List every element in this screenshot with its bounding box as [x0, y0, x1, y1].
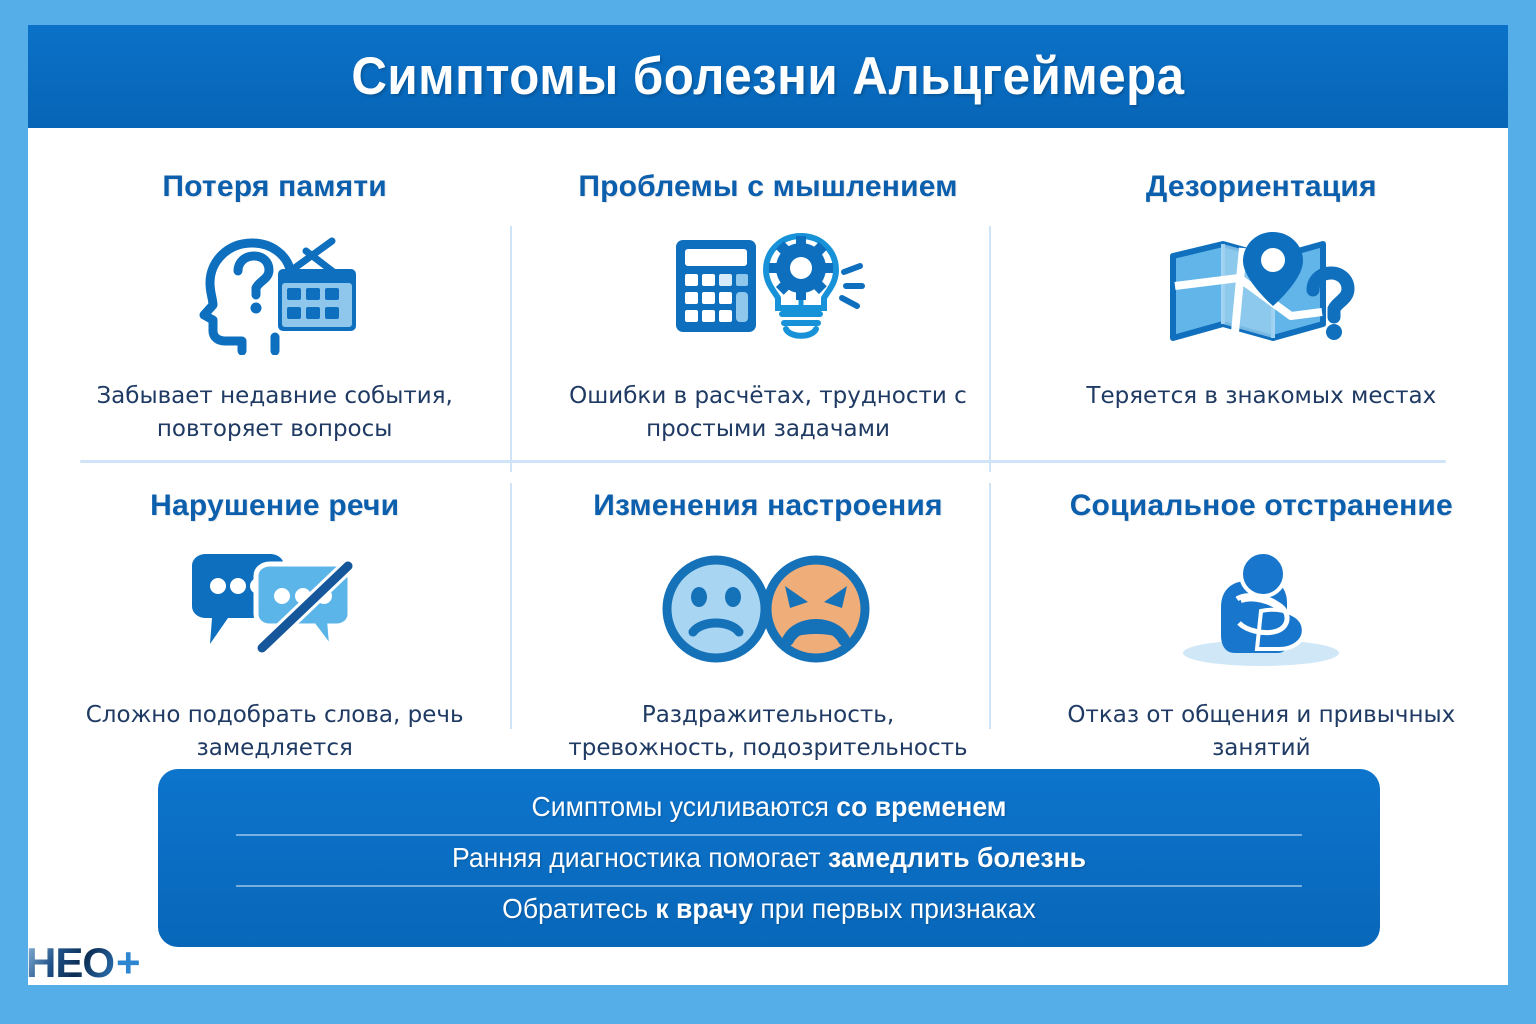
symptom-title: Нарушение речи — [150, 489, 399, 523]
page-title: Симптомы болезни Альцгеймера — [351, 46, 1184, 107]
symptom-title: Потеря памяти — [162, 170, 387, 204]
symptoms-row-1: Потеря памяти — [28, 154, 1508, 472]
brand-logo: НЕО+ — [26, 942, 140, 984]
symptom-card-mood-changes[interactable]: Изменения настроения — [521, 473, 1014, 791]
symptom-description: Забывает недавние события, повторяет воп… — [65, 380, 485, 445]
symptom-title: Социальное отстранение — [1070, 489, 1453, 523]
symptom-card-speech-impairment[interactable]: Нарушение речи — [28, 473, 521, 791]
brand-logo-text: НЕО — [26, 942, 114, 984]
key-message-2-plain-start: Ранняя диагностика помогает — [452, 842, 828, 873]
key-messages-panel: Симптомы усиливаются со временем Ранняя … — [158, 769, 1380, 947]
symptom-title: Проблемы с мышлением — [578, 170, 957, 204]
symptom-card-memory-loss[interactable]: Потеря памяти — [28, 154, 521, 472]
symptom-description: Раздражительность, тревожность, подозрит… — [558, 699, 978, 764]
sitting-lonely-person-icon — [1161, 539, 1361, 679]
symptom-card-disorientation[interactable]: Дезориентация — [1015, 154, 1508, 472]
symptoms-row-2: Нарушение речи — [28, 473, 1508, 791]
head-question-calendar-icon — [180, 220, 370, 360]
key-message-3-bold: к врачу — [655, 893, 753, 924]
symptom-description: Сложно подобрать слова, речь замедляется — [65, 699, 485, 764]
key-message-1-bold: со временем — [836, 791, 1006, 822]
key-message-line-3: Обратитесь к врачу при первых признаках — [236, 885, 1302, 931]
symptom-description: Ошибки в расчётах, трудности с простыми … — [558, 380, 978, 445]
calculator-lightbulb-gear-icon — [668, 220, 868, 360]
key-message-1-plain-start: Симптомы усиливаются — [532, 791, 837, 822]
symptom-description: Теряется в знакомых местах — [1086, 380, 1436, 413]
infographic-poster: Симптомы болезни Альцгеймера Потеря памя… — [0, 0, 1536, 1024]
sad-angry-faces-icon — [660, 539, 875, 679]
speech-bubbles-slash-icon — [182, 539, 367, 679]
symptom-title: Изменения настроения — [593, 489, 942, 523]
key-message-3-plain-end: при первых признаках — [753, 893, 1036, 924]
row-divider — [80, 460, 1446, 463]
key-message-2-bold: замедлить болезнь — [828, 842, 1086, 873]
key-message-3-plain-start: Обратитесь — [502, 893, 655, 924]
map-pin-question-icon — [1161, 220, 1361, 360]
symptom-card-social-withdrawal[interactable]: Социальное отстранение — [1015, 473, 1508, 791]
header-band: Симптомы болезни Альцгеймера — [28, 25, 1508, 128]
symptoms-grid: Потеря памяти — [28, 128, 1508, 768]
key-message-line-2: Ранняя диагностика помогает замедлить бо… — [236, 834, 1302, 880]
symptom-card-thinking-problems[interactable]: Проблемы с мышлением — [521, 154, 1014, 472]
brand-logo-plus-icon: + — [116, 942, 140, 984]
symptom-description: Отказ от общения и привычных занятий — [1051, 699, 1471, 764]
symptom-title: Дезориентация — [1146, 170, 1377, 204]
key-message-line-1: Симптомы усиливаются со временем — [236, 785, 1302, 829]
